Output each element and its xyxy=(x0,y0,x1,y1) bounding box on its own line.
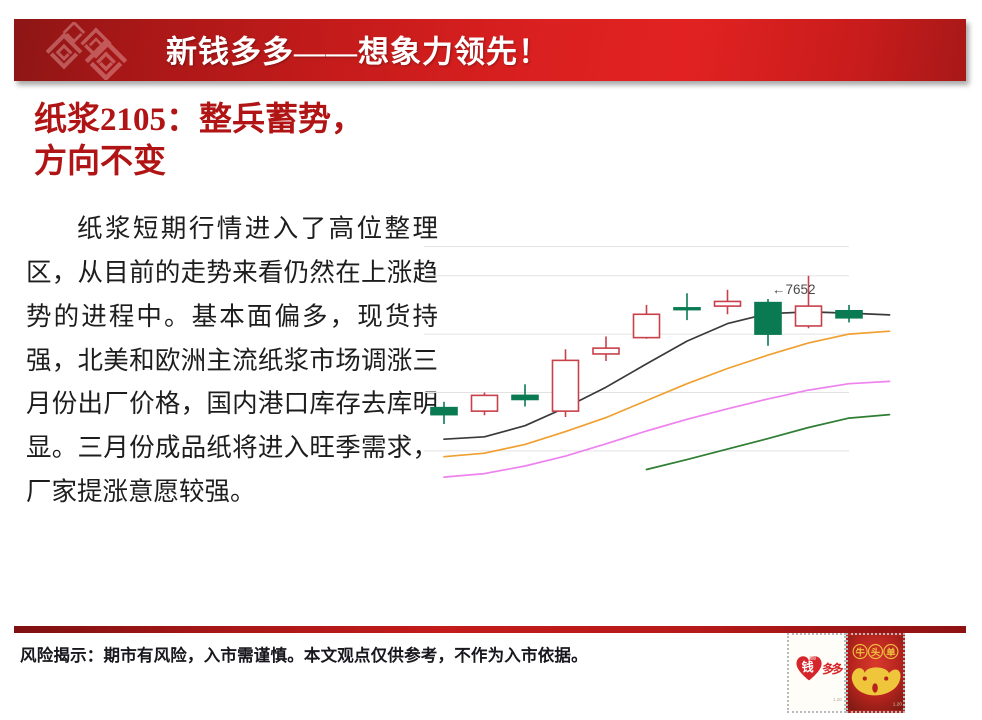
chart-moving-average-lines xyxy=(444,312,890,477)
candle-8 xyxy=(755,299,781,346)
candle-2 xyxy=(512,384,538,406)
footer-divider xyxy=(14,626,966,633)
ma-line-MA-longest xyxy=(647,415,890,470)
svg-text:头: 头 xyxy=(871,647,881,659)
candle-body xyxy=(755,303,781,335)
chart-candles xyxy=(431,276,862,424)
candle-6 xyxy=(674,293,700,320)
header-title: 新钱多多——想象力领先！ xyxy=(166,27,550,72)
page-title-line-1: 纸浆2105：整兵蓄势， xyxy=(34,99,454,141)
page-title-line-2: 方向不变 xyxy=(34,141,454,183)
svg-text:1.20: 1.20 xyxy=(833,697,842,702)
candle-0 xyxy=(431,402,457,424)
svg-text:牛: 牛 xyxy=(855,647,865,659)
candle-1 xyxy=(472,392,498,415)
svg-text:多: 多 xyxy=(831,661,843,676)
candlestick-chart: ←7652 xyxy=(424,232,936,480)
qianduoduo-stamp: 钱 多 多 1.20 xyxy=(787,633,846,713)
candle-4 xyxy=(593,336,619,361)
candle-3 xyxy=(553,349,579,417)
svg-text:1.20: 1.20 xyxy=(893,702,902,707)
body-paragraph: 纸浆短期行情进入了高位整理区，从目前的走势来看仍然在上涨趋势的进程中。基本面偏多… xyxy=(26,207,438,514)
qianduoduo-stamp-art: 钱 多 多 1.20 xyxy=(789,635,844,711)
candle-body xyxy=(593,348,619,354)
candle-body xyxy=(472,395,498,411)
ma-line-MA-mid xyxy=(444,331,890,457)
candle-body xyxy=(796,306,822,326)
candle-body xyxy=(512,395,538,399)
diamond-maze-logo-icon xyxy=(34,22,144,80)
annotation-label: ←7652 xyxy=(772,282,816,297)
candle-body xyxy=(836,311,862,318)
page-title: 纸浆2105：整兵蓄势， 方向不变 xyxy=(34,99,454,183)
chart-gridlines xyxy=(424,247,849,451)
niutoudan-stamp: 牛 头 单 1.20 xyxy=(846,633,905,713)
chart-svg: ←7652 xyxy=(424,232,936,480)
footer-stamps: 钱 多 多 1.20 牛 头 单 xyxy=(787,633,905,713)
candle-body xyxy=(431,408,457,415)
ma-line-MA-short xyxy=(444,312,890,439)
niutoudan-stamp-art: 牛 头 单 1.20 xyxy=(848,635,903,711)
svg-text:钱: 钱 xyxy=(802,659,814,674)
candle-5 xyxy=(634,305,660,339)
chart-annotations: ←7652 xyxy=(772,282,816,297)
candle-7 xyxy=(715,290,741,315)
candle-body xyxy=(715,301,741,306)
candle-body xyxy=(553,360,579,411)
svg-text:单: 单 xyxy=(886,647,896,659)
candle-body xyxy=(634,314,660,337)
candle-10 xyxy=(836,305,862,323)
candle-body xyxy=(674,308,700,310)
header-banner: 新钱多多——想象力领先！ xyxy=(14,19,966,81)
footer-risk-note: 风险揭示：期市有风险，入市需谨慎。本文观点仅供参考，不作为入市依据。 xyxy=(20,642,588,666)
